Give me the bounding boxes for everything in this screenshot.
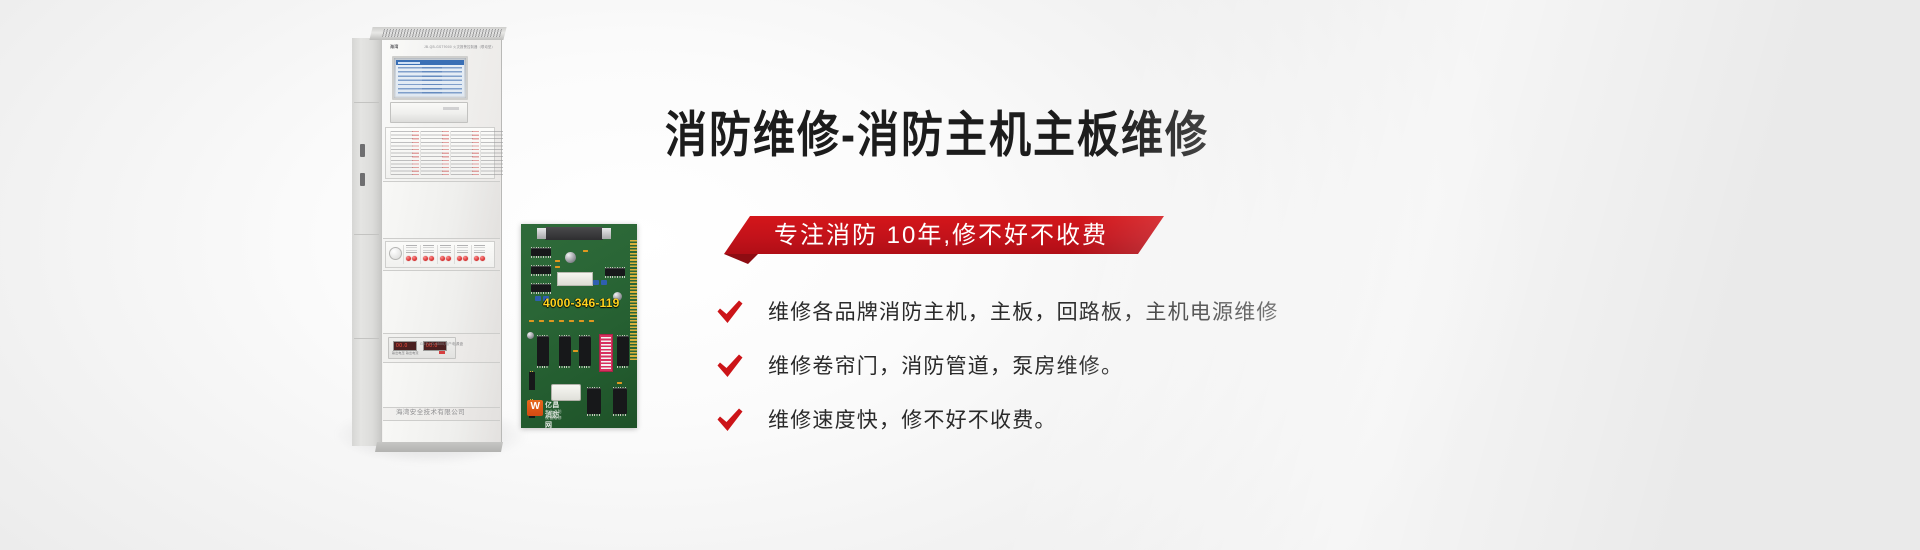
- pcb-capacitor: [565, 252, 576, 263]
- meter-caption: 输出电压 输出电流: [392, 351, 419, 355]
- pcb-dip-switch: [599, 334, 613, 372]
- fire-alarm-control-cabinet-image: 海湾 JB-QB-GST9000 火灾报警控制器（联动型）: [352, 14, 504, 452]
- pcb-dip-ic: [613, 388, 627, 414]
- check-mark-icon: [716, 354, 744, 380]
- lcd-title-bar: [396, 60, 464, 65]
- cabinet-seam: [354, 234, 379, 235]
- cabinet-seam: [354, 338, 379, 339]
- pcb-ic-chip: [605, 268, 625, 276]
- cabinet-indicator-led-panel: [385, 241, 495, 268]
- cabinet-side-door: [352, 38, 382, 446]
- pcb-dip-ic: [559, 336, 571, 366]
- cabinet-brand-strip: 海湾 JB-QB-GST9000 火灾报警控制器（联动型）: [386, 44, 496, 54]
- meter-status-led: [439, 351, 445, 354]
- list-item-label: 维修速度快，修不好不收费。: [768, 401, 1057, 441]
- service-feature-list: 维修各品牌消防主机，主板，回路板，主机电源维修 维修卷帘门，消防管道，泵房维修。…: [716, 293, 1416, 455]
- cabinet-seam: [354, 102, 379, 103]
- cabinet-blank-panel: [383, 362, 500, 408]
- list-item: 维修各品牌消防主机，主板，回路板，主机电源维修: [716, 293, 1416, 347]
- list-item: 维修卷帘门，消防管道，泵房维修。: [716, 347, 1416, 401]
- cabinet-blank-panel: [383, 420, 500, 444]
- keypad-led-column: [442, 131, 449, 175]
- cabinet-hinge-icon: [360, 144, 365, 157]
- cabinet-model-label: GST-LD-8500用户电源盘: [420, 342, 463, 347]
- pcb-ic-chip: [531, 248, 551, 256]
- pcb-phone-number-watermark: 4000-346-119: [543, 296, 637, 310]
- cabinet-hinge-icon: [360, 173, 365, 186]
- check-mark-icon: [716, 300, 744, 326]
- pcb-eprom-chip: [557, 272, 593, 286]
- cabinet-power-meter-panel: 00.0 00.0 输出电压 输出电流: [388, 337, 456, 359]
- pcb-pin-header: [529, 372, 535, 390]
- keypad-label-column: [390, 131, 413, 175]
- pcb-dip-ic: [537, 336, 549, 366]
- promo-banner: 海湾 JB-QB-GST9000 火灾报警控制器（联动型）: [0, 0, 1920, 550]
- pcb-ic-chip: [531, 266, 551, 274]
- keypad-label-column: [420, 131, 443, 175]
- pcb-capacitor: [527, 332, 534, 339]
- ribbon-tail: [724, 254, 758, 270]
- pcb-db-connector: [545, 227, 603, 240]
- cabinet-base-plinth: [375, 442, 503, 452]
- list-item: 维修速度快，修不好不收费。: [716, 401, 1416, 455]
- ribbon-label: 专注消防 10年,修不好不收费: [774, 219, 1154, 253]
- cabinet-model-strip: JB-QB-GST9000 火灾报警控制器（联动型）: [424, 44, 495, 49]
- slogan-ribbon: 专注消防 10年,修不好不收费: [724, 216, 1164, 262]
- cabinet-brand-mark: 海湾: [390, 44, 399, 50]
- check-mark-icon: [716, 408, 744, 434]
- pcb-dip-ic: [579, 336, 591, 366]
- pcb-ic-chip: [531, 284, 551, 292]
- cabinet-printer-tray: [390, 102, 468, 123]
- pcb-dip-ic: [617, 336, 629, 366]
- cabinet-rotary-dial-icon: [389, 247, 402, 260]
- keypad-label-column: [480, 131, 503, 175]
- logo-subtitle: 专业消防设备维修: [545, 409, 563, 421]
- banner-title: 消防维修-消防主机主板维修: [665, 96, 1209, 167]
- cabinet-manufacturer-label: 海湾安全技术有限公司: [396, 406, 465, 416]
- cabinet-blank-panel: [383, 181, 500, 239]
- cabinet-zone-keypad-panel: [385, 127, 495, 179]
- pcb-watermark-logo: 亿昌消防网 专业消防设备维修: [527, 398, 563, 420]
- lcd-screen-surface: [396, 60, 464, 96]
- list-item-label: 维修卷帘门，消防管道，泵房维修。: [768, 347, 1123, 387]
- meter-voltage-value: 00.0: [396, 343, 408, 349]
- keypad-label-column: [450, 131, 473, 175]
- keypad-led-column: [472, 131, 479, 175]
- cabinet-vent-grille-icon: [382, 29, 502, 37]
- meter-voltage-display: 00.0: [393, 341, 417, 351]
- cabinet-blank-panel: [383, 270, 500, 334]
- logo-mark-icon: [527, 400, 543, 416]
- lcd-text-rows-secondary: [422, 67, 442, 95]
- cabinet-lcd-display: [392, 56, 468, 100]
- list-item-label: 维修各品牌消防主机，主板，回路板，主机电源维修: [768, 293, 1279, 333]
- keypad-led-column: [412, 131, 419, 175]
- pcb-dip-ic: [587, 388, 601, 414]
